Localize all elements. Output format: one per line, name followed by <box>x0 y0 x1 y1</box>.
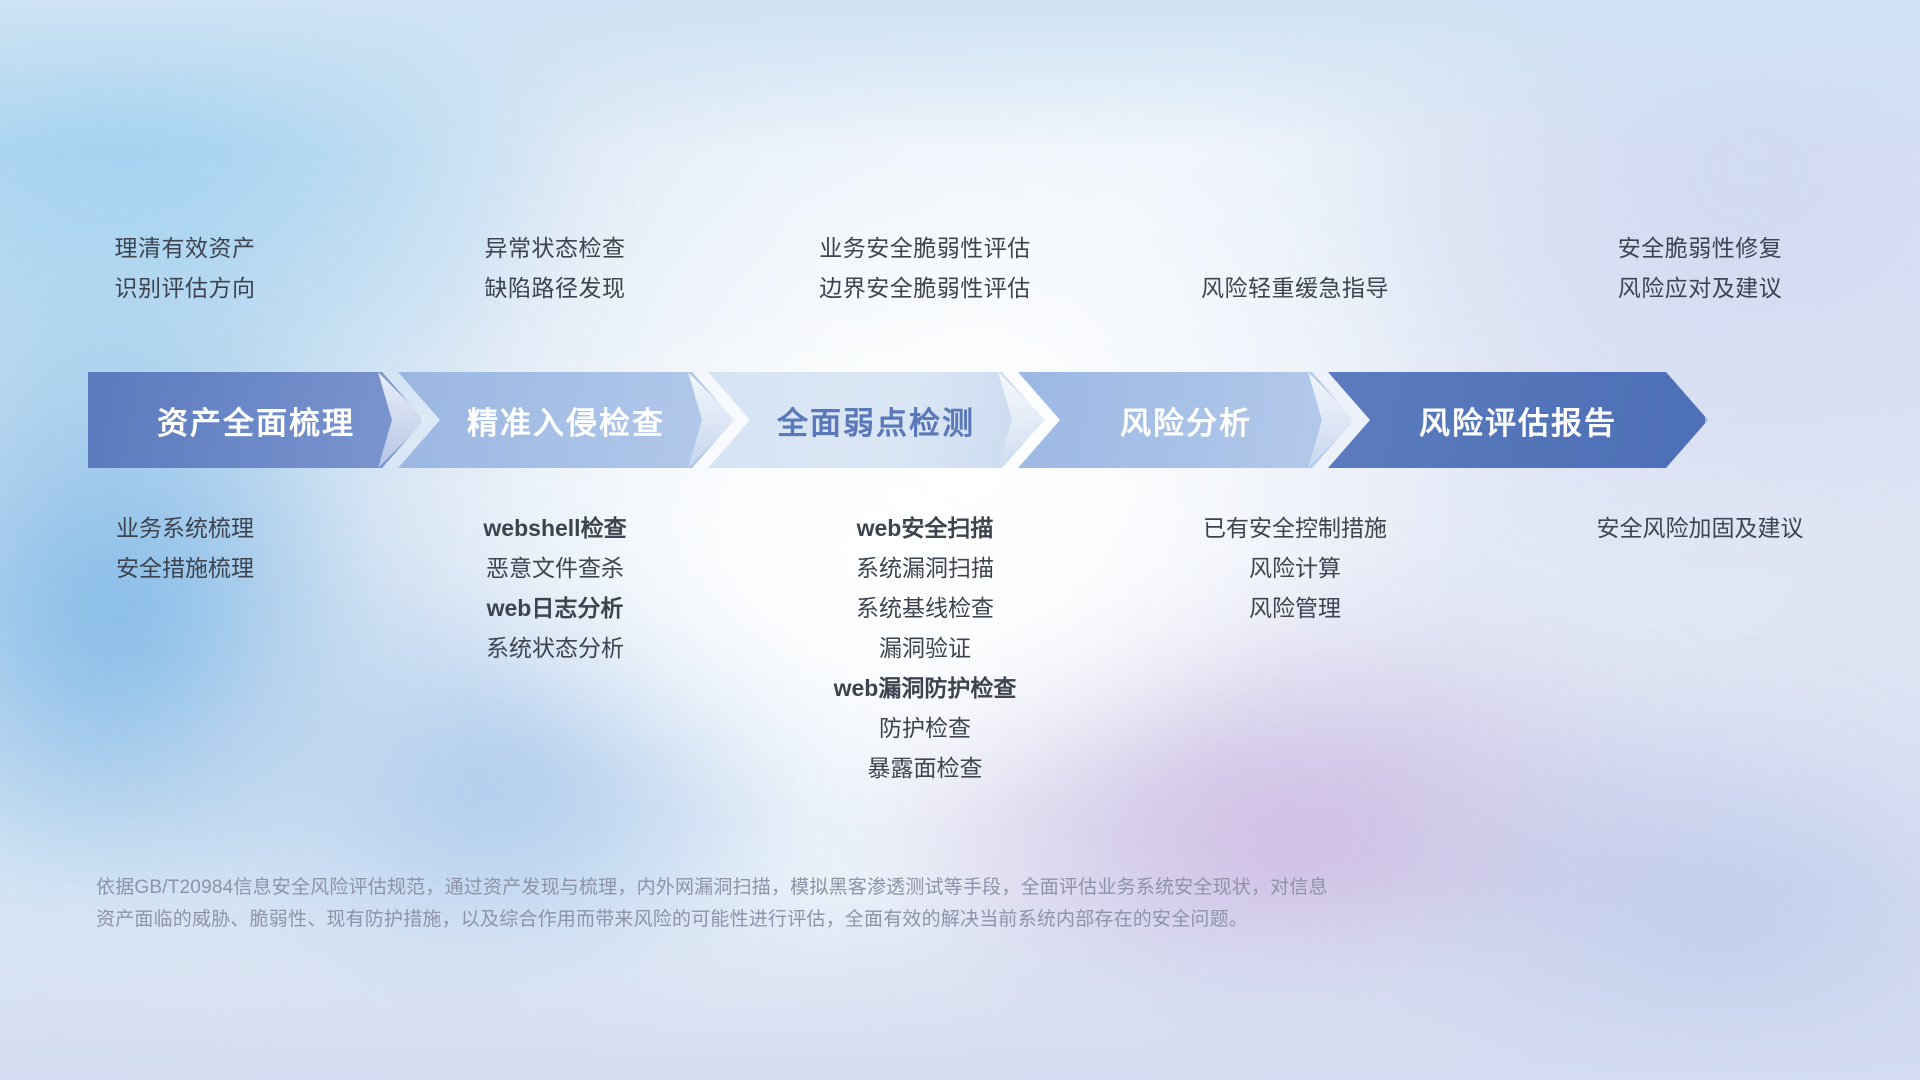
chevron-label: 全面弱点检测 <box>777 398 975 443</box>
top-label: 安全脆弱性修复 <box>1480 228 1920 268</box>
chevron-stage-asset-inventory[interactable]: 资产全面梳理 <box>88 372 424 468</box>
top-labels-asset-inventory: 理清有效资产 识别评估方向 <box>0 228 370 308</box>
detail-item: 系统基线检查 <box>740 588 1110 628</box>
chevron-stage-risk-analysis[interactable]: 风险分析 <box>1018 372 1354 468</box>
top-label: 业务安全脆弱性评估 <box>740 228 1110 268</box>
chevron-label: 精准入侵检查 <box>467 398 665 443</box>
chevron-label: 风险评估报告 <box>1419 398 1617 443</box>
risk-assessment-process-diagram: 理清有效资产 识别评估方向 异常状态检查 缺陷路径发现 业务安全脆弱性评估 边界… <box>0 0 1920 1080</box>
chevron-label: 资产全面梳理 <box>157 398 355 443</box>
chevron-stage-risk-report[interactable]: 风险评估报告 <box>1328 372 1708 468</box>
top-label: 理清有效资产 <box>0 228 370 268</box>
top-label-row: 理清有效资产 识别评估方向 异常状态检查 缺陷路径发现 业务安全脆弱性评估 边界… <box>0 228 1920 308</box>
top-labels-intrusion-check: 异常状态检查 缺陷路径发现 <box>370 228 740 308</box>
top-label: 缺陷路径发现 <box>370 268 740 308</box>
top-label: 识别评估方向 <box>0 268 370 308</box>
process-chevron-band: 资产全面梳理 精准入侵检查 全面弱点检测 风险分析 风险评估报告 <box>88 372 1838 468</box>
chevron-label: 风险分析 <box>1120 398 1252 443</box>
detail-item: web漏洞防护检查 <box>740 668 1110 708</box>
detail-item: 系统漏洞扫描 <box>740 548 1110 588</box>
details-intrusion-check: webshell检查 恶意文件查杀 web日志分析 系统状态分析 <box>370 508 740 788</box>
details-weakness-detection: web安全扫描 系统漏洞扫描 系统基线检查 漏洞验证 web漏洞防护检查 防护检… <box>740 508 1110 788</box>
top-label: 边界安全脆弱性评估 <box>740 268 1110 308</box>
details-risk-analysis: 已有安全控制措施 风险计算 风险管理 <box>1110 508 1480 788</box>
top-labels-weakness-detection: 业务安全脆弱性评估 边界安全脆弱性评估 <box>740 228 1110 308</box>
top-label: 异常状态检查 <box>370 228 740 268</box>
detail-item: 暴露面检查 <box>740 748 1110 788</box>
details-risk-report: 安全风险加固及建议 <box>1480 508 1920 788</box>
detail-item: 安全风险加固及建议 <box>1480 508 1920 548</box>
detail-item: web安全扫描 <box>740 508 1110 548</box>
top-label: 风险应对及建议 <box>1480 268 1920 308</box>
detail-item: 漏洞验证 <box>740 628 1110 668</box>
detail-item: 恶意文件查杀 <box>370 548 740 588</box>
chevron-stage-intrusion-check[interactable]: 精准入侵检查 <box>398 372 734 468</box>
detail-item: 已有安全控制措施 <box>1110 508 1480 548</box>
detail-item: webshell检查 <box>370 508 740 548</box>
detail-item: 防护检查 <box>740 708 1110 748</box>
detail-item: web日志分析 <box>370 588 740 628</box>
footer-description: 依据GB/T20984信息安全风险评估规范，通过资产发现与梳理，内外网漏洞扫描，… <box>96 872 1656 936</box>
bottom-detail-row: 业务系统梳理 安全措施梳理 webshell检查 恶意文件查杀 web日志分析 … <box>0 508 1920 788</box>
chevron-stage-weakness-detection[interactable]: 全面弱点检测 <box>708 372 1044 468</box>
top-labels-risk-analysis: 风险轻重缓急指导 <box>1110 228 1480 308</box>
details-asset-inventory: 业务系统梳理 安全措施梳理 <box>0 508 370 788</box>
detail-item: 风险计算 <box>1110 548 1480 588</box>
footer-line-1: 依据GB/T20984信息安全风险评估规范，通过资产发现与梳理，内外网漏洞扫描，… <box>96 872 1656 904</box>
detail-item: 安全措施梳理 <box>0 548 370 588</box>
detail-item: 业务系统梳理 <box>0 508 370 548</box>
top-label: 风险轻重缓急指导 <box>1110 268 1480 308</box>
detail-item: 风险管理 <box>1110 588 1480 628</box>
top-labels-risk-report: 安全脆弱性修复 风险应对及建议 <box>1480 228 1920 308</box>
footer-line-2: 资产面临的威胁、脆弱性、现有防护措施，以及综合作用而带来风险的可能性进行评估，全… <box>96 904 1656 936</box>
detail-item: 系统状态分析 <box>370 628 740 668</box>
